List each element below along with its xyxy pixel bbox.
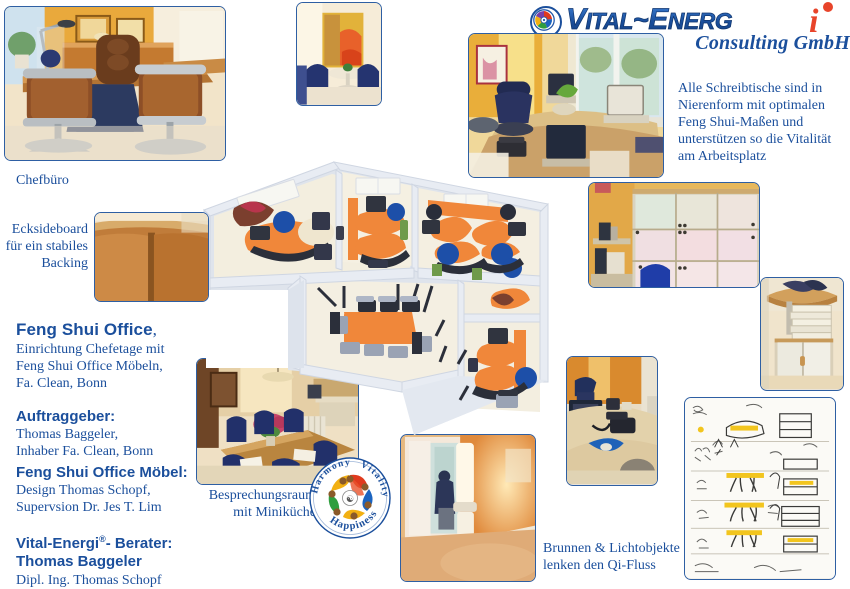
brand-dot <box>823 2 833 12</box>
info-heading-2: Auftraggeber: <box>16 408 206 426</box>
caption-besprechungsraum: Besprechungsraum mit Miniküche <box>190 487 316 521</box>
info-block3-line-2: Supervsion Dr. Jes T. Lim <box>16 499 206 516</box>
info-block3-line-1: Design Thomas Schopf, <box>16 482 206 499</box>
callout-desks-line-3: Feng Shui-Maßen und <box>678 114 850 131</box>
callout-desks-line-1: Alle Schreibtische sind in <box>678 80 850 97</box>
info-block-moebel: Feng Shui Office Möbel: Design Thomas Sc… <box>16 464 206 516</box>
caption-brunnen-line-2: lenken den Qi-Fluss <box>543 557 723 574</box>
info-block-feng-shui-office: Feng Shui Office, Einrichtung Chefetage … <box>16 320 196 392</box>
caption-besprechungsraum-line-2: mit Miniküche <box>190 504 316 521</box>
info-heading-4-name: Thomas Baggeler <box>16 553 216 571</box>
floorplan-3d-render <box>196 150 566 440</box>
callout-desks-line-2: Nierenform mit optimalen <box>678 97 850 114</box>
callout-desks-line-4: unterstützen so die Vitalität <box>678 131 850 148</box>
caption-brunnen: Brunnen & Lichtobjekte lenken den Qi-Flu… <box>543 540 723 574</box>
info-block2-line-1: Thomas Baggeler, <box>16 426 206 443</box>
info-heading-1-comma: , <box>153 320 157 339</box>
photo-arbeitsplatz-blau <box>566 356 658 486</box>
info-heading-3: Feng Shui Office Möbel: <box>16 464 206 482</box>
info-block1-line-1: Einrichtung Chefetage mit <box>16 341 196 358</box>
feng-shui-harmony-circle-badge: ☯ Harmony Vitality Happiness <box>309 457 391 539</box>
brand-subtitle: Consulting GmbH <box>640 32 850 55</box>
photo-chefbuero <box>4 6 226 161</box>
poster-canvas: VITAL~ENERG i Consulting GmbH <box>0 0 850 586</box>
info-block2-line-2: Inhaber Fa. Clean, Bonn <box>16 443 206 460</box>
svg-text:☯: ☯ <box>346 494 354 504</box>
caption-ecksideboard-line-3: Backing <box>0 255 88 272</box>
registered-trademark-icon: ® <box>99 534 106 544</box>
info-block-berater: Vital-Energi®- Berater: Thomas Baggeler … <box>16 534 216 589</box>
callout-desks-line-5: am Arbeitsplatz <box>678 148 850 165</box>
caption-besprechungsraum-line-1: Besprechungsraum <box>190 487 316 504</box>
photo-rollcontainer <box>760 277 844 391</box>
photo-schrankwand <box>588 182 760 288</box>
photo-besprechungsecke <box>296 2 382 106</box>
callout-desks: Alle Schreibtische sind in Nierenform mi… <box>678 80 850 165</box>
caption-chefbuero: Chefbüro <box>16 172 69 189</box>
photo-ecksideboard <box>94 212 209 302</box>
info-block4-line-1: Dipl. Ing. Thomas Schopf <box>16 572 216 589</box>
info-block-auftraggeber: Auftraggeber: Thomas Baggeler, Inhaber F… <box>16 408 206 460</box>
caption-ecksideboard-line-1: Ecksideboard <box>0 221 88 238</box>
info-heading-4: Vital-Energi®- Berater: <box>16 534 216 553</box>
caption-ecksideboard: Ecksideboard für ein stabiles Backing <box>0 221 88 272</box>
photo-flur-lichtobjekt <box>400 434 536 582</box>
info-block1-line-2: Feng Shui Office Möbeln, <box>16 358 196 375</box>
caption-ecksideboard-line-2: für ein stabiles <box>0 238 88 255</box>
info-block1-line-3: Fa. Clean, Bonn <box>16 375 196 392</box>
brand-wordmark: VITAL~ENERG i <box>566 2 848 36</box>
info-heading-1: Feng Shui Office, <box>16 320 196 341</box>
caption-brunnen-line-1: Brunnen & Lichtobjekte <box>543 540 723 557</box>
